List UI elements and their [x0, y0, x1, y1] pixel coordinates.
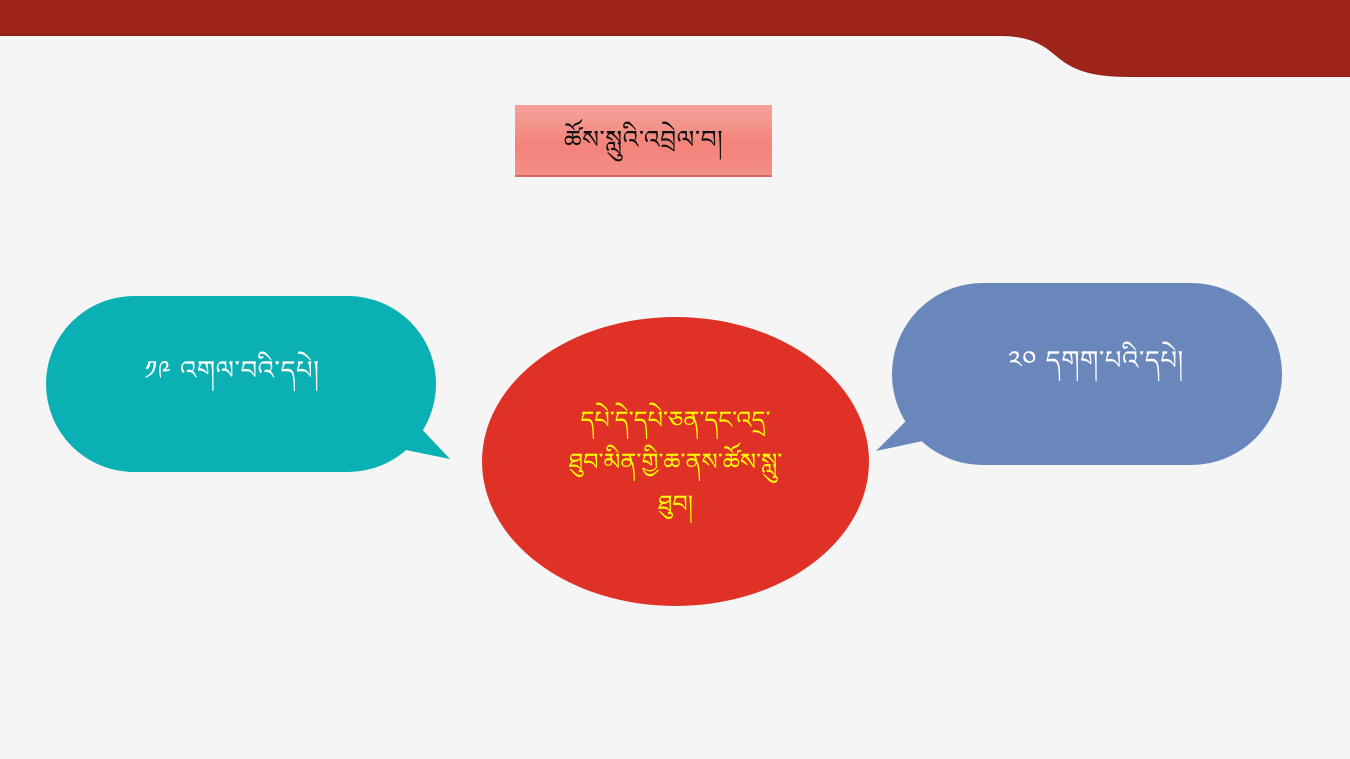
banner-shadow-shape [0, 0, 1350, 77]
presentation-slide: ཚོས་སླུའི་འབྲེལ་བ། ༡༩ འགལ་བའི་དཔེ། ༢༠ དག… [0, 0, 1350, 759]
center-ellipse-line-2: ཐུབ་མིན་གྱི་ཆ་ནས་ཚོས་སླུ་ [569, 441, 783, 483]
speech-bubble-left[interactable]: ༡༩ འགལ་བའི་དཔེ། [46, 296, 450, 472]
center-ellipse-line-3: ཐུབ། [658, 483, 693, 525]
speech-bubble-right-label: ༢༠ དགག་པའི་དཔེ། [876, 346, 1282, 377]
banner-main-shape [0, 0, 1350, 76]
top-red-banner [0, 0, 1350, 90]
center-ellipse-line-1: དཔེ་དེ་དཔེ་ཅན་དང་འདྲ་ [580, 399, 770, 441]
page-title: ཚོས་སླུའི་འབྲེལ་བ། [564, 126, 723, 155]
slide-title-box: ཚོས་སླུའི་འབྲེལ་བ། [515, 105, 772, 177]
speech-bubble-left-label: ༡༩ འགལ་བའི་དཔེ། [46, 356, 450, 387]
center-ellipse-text: དཔེ་དེ་དཔེ་ཅན་དང་འདྲ་ ཐུབ་མིན་གྱི་ཆ་ནས་ཚ… [482, 317, 869, 606]
center-ellipse[interactable]: དཔེ་དེ་དཔེ་ཅན་དང་འདྲ་ ཐུབ་མིན་གྱི་ཆ་ནས་ཚ… [482, 317, 869, 606]
speech-bubble-right[interactable]: ༢༠ དགག་པའི་དཔེ། [876, 283, 1282, 465]
